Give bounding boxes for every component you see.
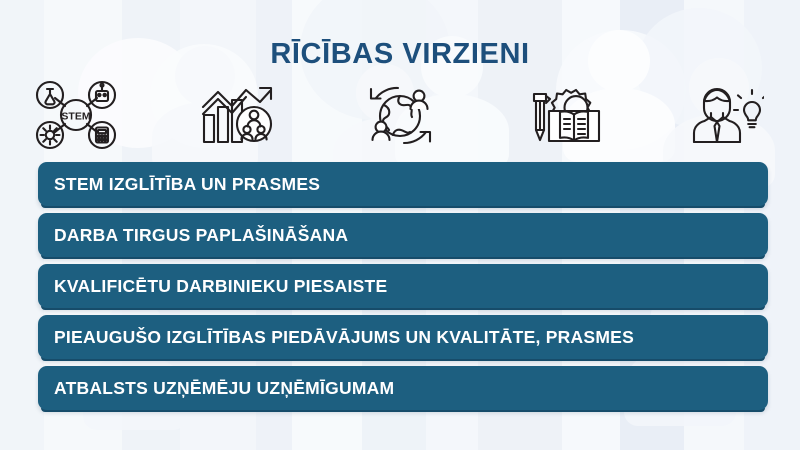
slide-rkibas-virzieni: RĪCĪBAS VIRZIENI STEM [0,0,800,450]
action-directions-list: STEM IZGLĪTĪBA UN PRASMES DARBA TIRGUS P… [38,162,768,417]
list-item[interactable]: KVALIFICĒTU DARBINIEKU PIESAISTE [38,264,768,308]
list-item-label: ATBALSTS UZŅĒMĒJU UZŅĒMĪGUMAM [38,378,394,399]
list-item-label: PIEAUGUŠO IZGLĪTĪBAS PIEDĀVĀJUMS UN KVAL… [38,327,634,348]
list-item[interactable]: DARBA TIRGUS PAPLAŠINĀŠANA [38,213,768,257]
growth-chart-people-icon [190,78,286,152]
list-item[interactable]: ATBALSTS UZŅĒMĒJU UZŅĒMĪGUMAM [38,366,768,410]
list-item[interactable]: STEM IZGLĪTĪBA UN PRASMES [38,162,768,206]
stem-education-icon: STEM [28,78,124,152]
svg-text:STEM: STEM [61,111,90,123]
list-item-label: DARBA TIRGUS PAPLAŠINĀŠANA [38,225,348,246]
list-item-label: KVALIFICĒTU DARBINIEKU PIESAISTE [38,276,387,297]
page-title: RĪCĪBAS VIRZIENI [0,38,800,71]
list-item-label: STEM IZGLĪTĪBA UN PRASMES [38,174,320,195]
book-pencil-gear-icon [514,78,610,152]
icon-row: STEM [28,78,772,152]
entrepreneur-lightbulb-icon [676,78,772,152]
global-workforce-icon [352,78,448,152]
list-item[interactable]: PIEAUGUŠO IZGLĪTĪBAS PIEDĀVĀJUMS UN KVAL… [38,315,768,359]
